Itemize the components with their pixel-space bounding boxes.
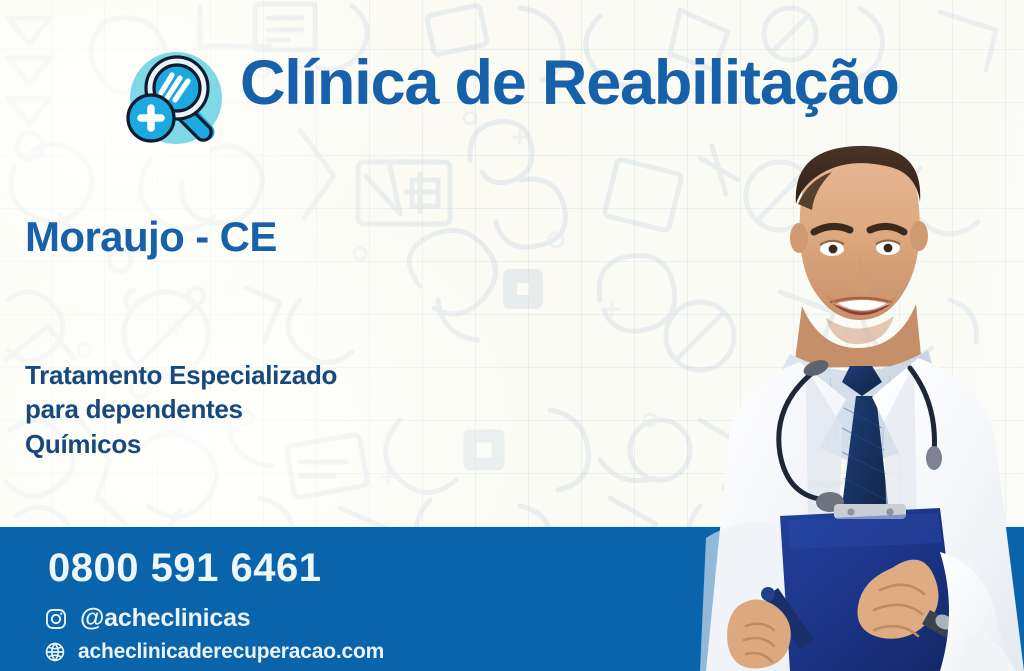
footer-content: 0800 591 6461 @acheclinicas ac bbox=[0, 527, 700, 671]
instagram-handle: @acheclinicas bbox=[80, 604, 250, 633]
tagline-line-1: Tratamento Especializado bbox=[25, 358, 337, 392]
instagram-handle-row[interactable]: @acheclinicas bbox=[44, 604, 250, 633]
tagline-line-2: para dependentes bbox=[25, 392, 337, 426]
tagline: Tratamento Especializado para dependente… bbox=[25, 358, 337, 461]
website-row[interactable]: acheclinicaderecuperacao.com bbox=[44, 640, 384, 664]
tagline-line-3: Químicos bbox=[25, 427, 337, 461]
clinic-banner: Clínica de Reabilitação Moraujo - CE Tra… bbox=[0, 0, 1024, 671]
instagram-icon bbox=[44, 607, 68, 631]
phone-number[interactable]: 0800 591 6461 bbox=[48, 546, 321, 591]
website-url: acheclinicaderecuperacao.com bbox=[78, 640, 384, 664]
doctor-photo bbox=[694, 118, 1024, 671]
globe-icon bbox=[44, 641, 66, 663]
page-title: Clínica de Reabilitação bbox=[240, 52, 899, 115]
location-label: Moraujo - CE bbox=[25, 213, 277, 261]
magnifier-medical-cross-icon bbox=[120, 48, 228, 152]
